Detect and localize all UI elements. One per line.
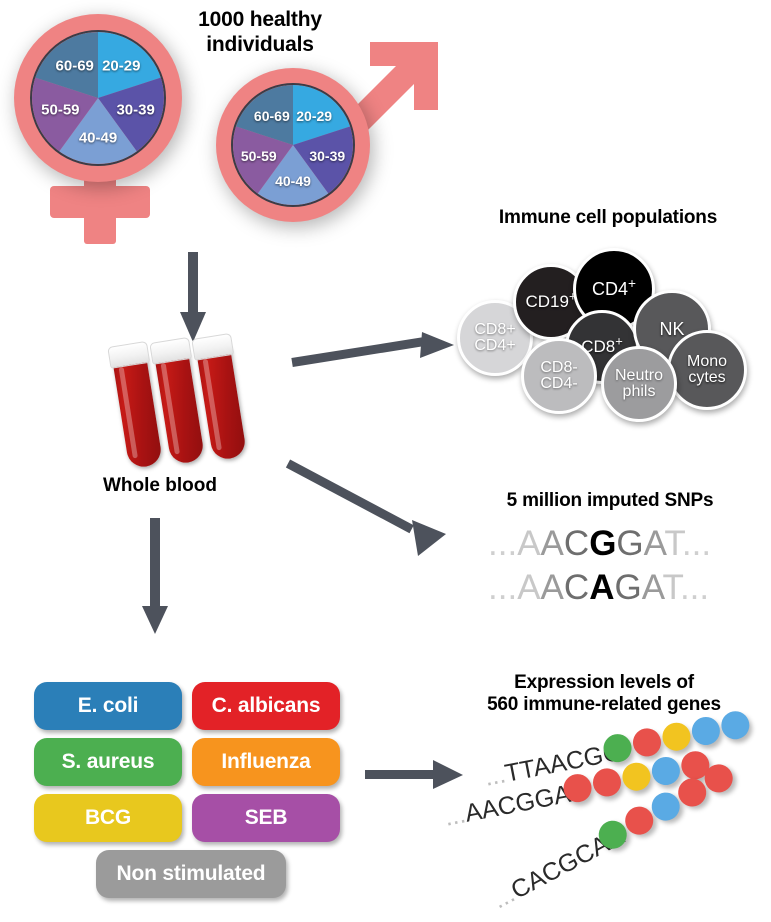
cell-label-line: CD4+	[592, 280, 636, 298]
label-whole-blood: Whole blood	[60, 475, 260, 497]
cell-label-superscript: +	[615, 334, 623, 349]
snp-base: A	[541, 568, 564, 607]
cell-label-line: cytes	[687, 370, 727, 386]
snp-base: A	[517, 524, 540, 563]
pie-slice-label-50-59: 50-59	[241, 148, 277, 164]
cell-label-line: NK	[659, 320, 684, 338]
stimulus-box-c-albicans[interactable]: C. albicans	[192, 682, 340, 730]
section-title-snps: 5 million imputed SNPs	[460, 490, 760, 512]
snp-variant-base: G	[589, 524, 616, 563]
immune-cell-label: CD19+	[525, 293, 576, 310]
pie-slice-label-20-29: 20-29	[296, 108, 332, 124]
pie-slice-label-20-29: 20-29	[102, 57, 140, 74]
snp-base: T	[662, 568, 680, 607]
strand-bead	[660, 720, 693, 753]
cell-label-superscript: +	[628, 276, 636, 291]
female-crossbar	[50, 186, 150, 218]
snp-allele-row: ...AACGGAT...	[488, 524, 711, 564]
figure-canvas: 1000 healthy individuals Immune cell pop…	[0, 0, 771, 922]
immune-cell-label: NK	[659, 320, 684, 338]
pie-slice-label-40-49: 40-49	[275, 173, 311, 189]
snp-base: T	[664, 524, 682, 563]
stimulus-box-non-stimulated[interactable]: Non stimulated	[96, 850, 286, 898]
immune-cell-cluster: CD8+CD4+CD19+CD4+CD8+NKMonocytesNeutroph…	[455, 238, 771, 418]
snp-variant-base: A	[589, 568, 614, 607]
immune-cell-label: CD8+CD4+	[474, 322, 515, 355]
immune-cell-label: CD4+	[592, 280, 636, 298]
cell-label-line: phils	[615, 384, 663, 400]
pie-slice-label-60-69: 60-69	[254, 108, 290, 124]
arrow-cohort-to-blood	[178, 252, 208, 344]
expression-strands: ...TTAACGG...AACGGAT...CACGCAA	[455, 740, 771, 915]
stimulus-box-seb[interactable]: SEB	[192, 794, 340, 842]
age-distribution-pie-male: 20-2930-3940-4950-5960-69	[231, 83, 355, 207]
immune-cell-neutrophils: Neutrophils	[601, 346, 677, 422]
immune-cell-label: Neutrophils	[615, 368, 663, 401]
female-gender-icon: 20-2930-3940-4950-5960-69	[8, 8, 208, 248]
cell-label-line: CD4+	[474, 338, 515, 354]
snp-trailing-ellipsis: ...	[682, 524, 711, 563]
whole-blood-tubes	[106, 332, 266, 482]
stimuli-panel: E. coliC. albicansS. aureusInfluenzaBCGS…	[34, 682, 344, 894]
pie-slice-label-50-59: 50-59	[41, 102, 79, 119]
cell-label-line: Mono	[687, 354, 727, 370]
immune-cell-cd8-cd4-: CD8-CD4-	[521, 338, 597, 414]
snp-leading-ellipsis: ...	[488, 568, 517, 607]
stimulus-box-influenza[interactable]: Influenza	[192, 738, 340, 786]
stimulus-box-bcg[interactable]: BCG	[34, 794, 182, 842]
section-title-expression: Expression levels of 560 immune-related …	[440, 672, 768, 717]
immune-cell-monocytes: Monocytes	[667, 330, 747, 410]
pie-slice-label-40-49: 40-49	[79, 129, 117, 146]
arrow-blood-to-stimuli	[140, 518, 170, 636]
title-expression-line1: Expression levels of	[440, 672, 768, 694]
snp-base: A	[517, 568, 540, 607]
pie-slice-label-30-39: 30-39	[116, 102, 154, 119]
arrow-blood-to-snps	[288, 460, 468, 570]
snp-base: A	[642, 568, 663, 607]
cell-label-line: Neutro	[615, 368, 663, 384]
snp-base: G	[614, 568, 641, 607]
cell-label-line: CD4-	[540, 376, 577, 392]
stimulus-box-e-coli[interactable]: E. coli	[34, 682, 182, 730]
snp-leading-ellipsis: ...	[488, 524, 517, 563]
pie-slice-label-60-69: 60-69	[56, 57, 94, 74]
cell-label-line: CD19+	[525, 293, 576, 310]
snp-base: C	[564, 568, 589, 607]
arrow-stimuli-to-expression	[365, 758, 465, 792]
strand-bead	[631, 726, 664, 759]
immune-cell-label: CD8-CD4-	[540, 360, 577, 393]
snp-base: A	[644, 524, 665, 563]
snp-base: C	[564, 524, 589, 563]
snp-trailing-ellipsis: ...	[680, 568, 709, 607]
snp-allele-row: ...AACAGAT...	[488, 568, 709, 608]
strand-bead	[689, 715, 722, 748]
age-distribution-pie-female: 20-2930-3940-4950-5960-69	[30, 30, 166, 166]
snp-sequences: ...AACGGAT... ...AACAGAT...	[488, 524, 738, 624]
pie-slice-label-30-39: 30-39	[309, 148, 345, 164]
stimulus-box-s-aureus[interactable]: S. aureus	[34, 738, 182, 786]
immune-cell-label: Monocytes	[687, 354, 727, 387]
snp-base: A	[541, 524, 564, 563]
title-expression-line2: 560 immune-related genes	[440, 694, 768, 716]
section-title-immune-cells: Immune cell populations	[452, 207, 764, 229]
male-gender-icon: 20-2930-3940-4950-5960-69	[210, 60, 410, 260]
cell-label-line: CD8+	[474, 322, 515, 338]
cell-label-line: CD8-	[540, 360, 577, 376]
snp-base: G	[616, 524, 643, 563]
arrow-blood-to-immune	[292, 332, 462, 378]
